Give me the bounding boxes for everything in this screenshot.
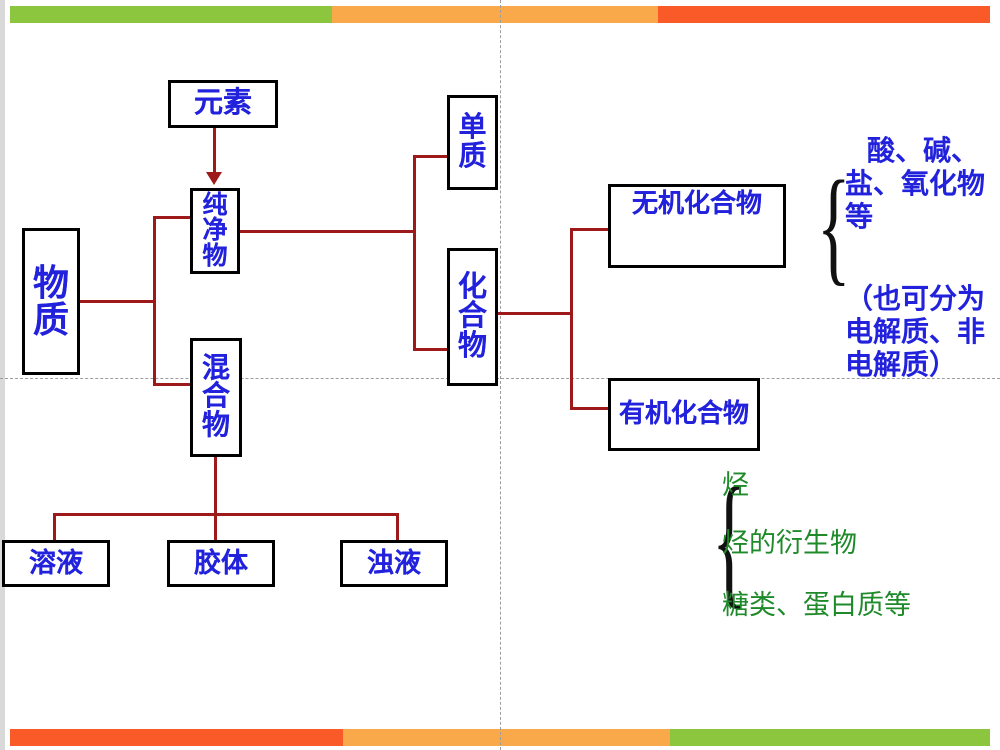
node-turbid-liquid-label: 浊液 — [343, 550, 445, 578]
node-compound-label: 化合物 — [450, 273, 495, 362]
annotation-organic-item-0-text: 烃 — [722, 470, 749, 500]
page-edge-strip — [0, 0, 5, 750]
node-solution-label: 溶液 — [5, 550, 107, 578]
connector-matter-stem — [80, 300, 156, 303]
connector-matter-to-mixture — [153, 383, 193, 386]
node-inorganic-compound[interactable]: 无机化合物 — [608, 184, 786, 268]
connector-pure-stem — [240, 230, 416, 233]
connector-matter-split-bar — [153, 216, 156, 386]
slide-canvas: 元素 物质 纯净物 混合物 单质 化合物 无机化合物 有机化合物 溶液 胶体 浊… — [0, 0, 1000, 750]
connector-matter-to-pure — [153, 216, 193, 219]
arrowhead-element-to-pure — [206, 172, 222, 185]
node-mixture[interactable]: 混合物 — [190, 338, 242, 457]
annotation-organic-item-hydrocarbon: 烃 — [722, 470, 749, 502]
node-colloid[interactable]: 胶体 — [167, 540, 275, 587]
vertical-guide-line — [500, 0, 501, 750]
connector-pure-to-elementary — [413, 155, 447, 158]
connector-mixture-split-bar — [53, 513, 398, 516]
bottom-bar-green-segment — [670, 729, 990, 746]
connector-compound-split-bar — [570, 228, 573, 410]
node-mixture-label: 混合物 — [193, 355, 239, 441]
annotation-electrolyte-note: （也可分为电解质、非电解质） — [845, 283, 1000, 382]
node-colloid-label: 胶体 — [170, 550, 272, 578]
node-matter[interactable]: 物质 — [22, 228, 80, 375]
connector-pure-split-bar — [413, 155, 416, 351]
node-organic-compound[interactable]: 有机化合物 — [608, 378, 760, 451]
connector-compound-stem — [497, 312, 573, 315]
node-elementary-substance-label: 单质 — [450, 114, 495, 171]
node-matter-label: 物质 — [25, 265, 77, 338]
top-bar-green-segment — [10, 6, 332, 23]
connector-pure-to-compound — [413, 348, 447, 351]
connector-mixture-to-turbid — [396, 513, 399, 541]
node-inorganic-compound-label: 无机化合物 — [611, 191, 783, 218]
connector-mixture-to-solution — [53, 513, 56, 541]
connector-element-to-pure — [213, 128, 216, 175]
connector-compound-to-organic — [570, 407, 610, 410]
connector-compound-to-inorganic — [570, 228, 610, 231]
annotation-organic-item-1-text: 烃的衍生物 — [722, 528, 857, 558]
node-pure-substance[interactable]: 纯净物 — [190, 188, 240, 274]
connector-mixture-to-colloid — [214, 513, 217, 541]
annotation-organic-item-sugars-proteins: 糖类、蛋白质等 — [722, 590, 911, 622]
node-element-label: 元素 — [171, 89, 275, 119]
node-element[interactable]: 元素 — [168, 80, 278, 128]
top-bar-orange-segment — [332, 6, 658, 23]
bottom-bar-orange-segment — [343, 729, 670, 746]
annotation-organic-item-2-text: 糖类、蛋白质等 — [722, 590, 911, 620]
node-pure-substance-label: 纯净物 — [193, 193, 237, 270]
node-solution[interactable]: 溶液 — [2, 540, 110, 587]
node-turbid-liquid[interactable]: 浊液 — [340, 540, 448, 587]
node-organic-compound-label: 有机化合物 — [611, 401, 757, 428]
annotation-organic-item-derivatives: 烃的衍生物 — [722, 528, 857, 560]
node-compound[interactable]: 化合物 — [447, 248, 498, 386]
bottom-bar-red-segment — [10, 729, 343, 746]
annotation-inorganic-examples-text: 酸、碱、盐、氧化物等 — [845, 136, 985, 233]
top-bar-red-segment — [658, 6, 990, 23]
node-elementary-substance[interactable]: 单质 — [447, 95, 498, 190]
annotation-electrolyte-note-text: （也可分为电解质、非电解质） — [845, 284, 985, 381]
annotation-inorganic-examples: 酸、碱、盐、氧化物等 — [845, 135, 1000, 234]
